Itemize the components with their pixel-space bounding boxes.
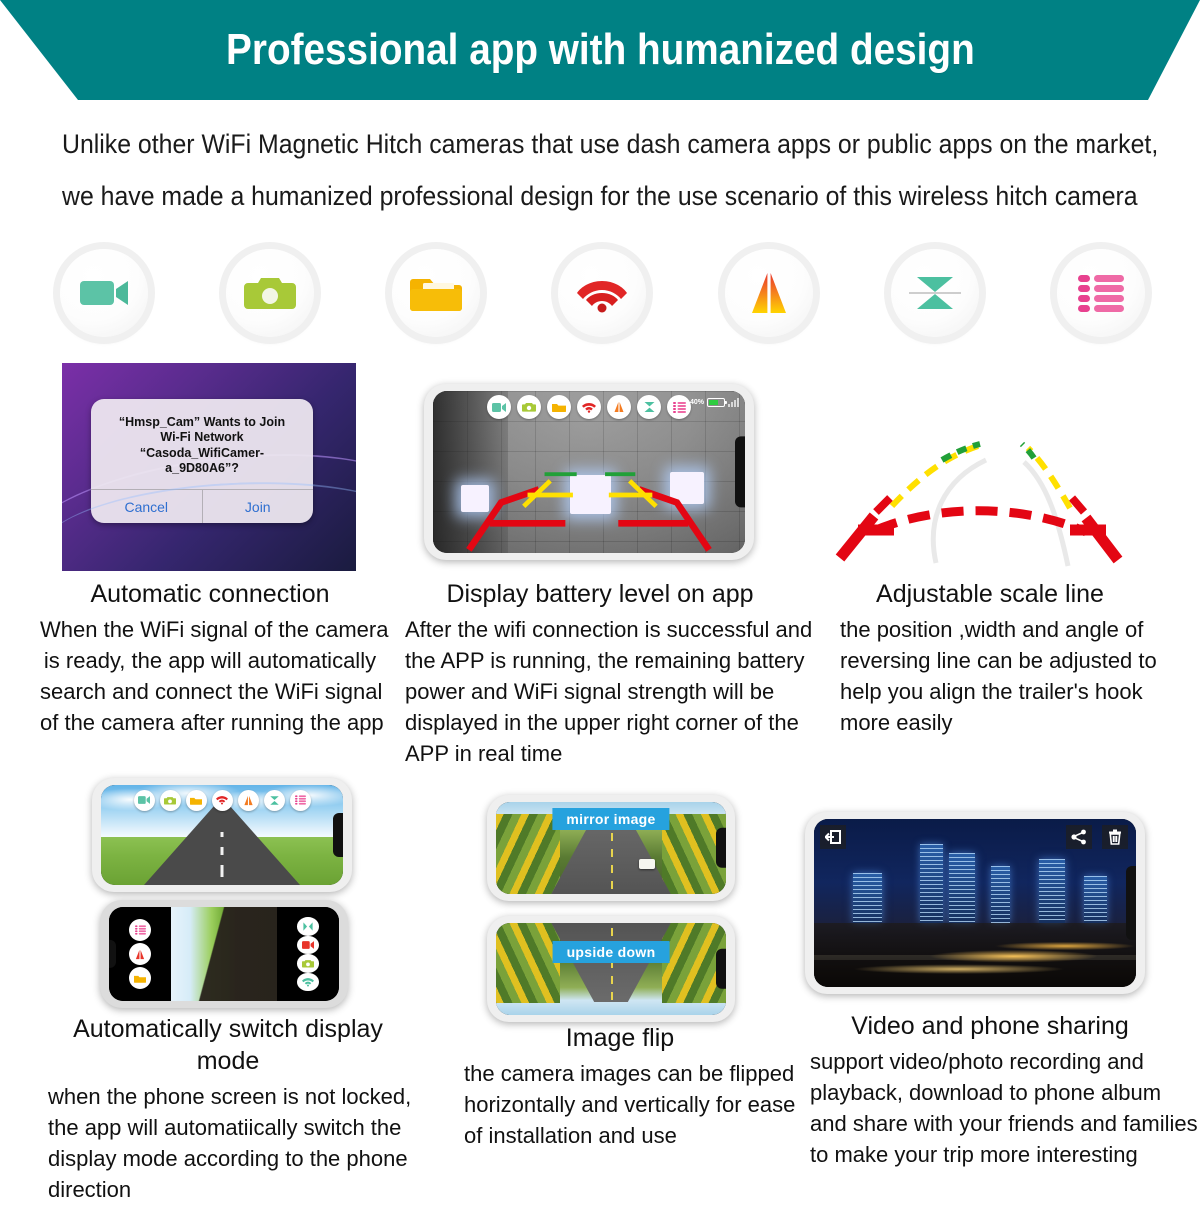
video-record-icon-button[interactable] bbox=[60, 249, 148, 337]
mirror-flip-icon bbox=[744, 270, 794, 316]
right-control-column bbox=[277, 907, 339, 1001]
mirror-flip-icon-button[interactable] bbox=[725, 249, 813, 337]
phone-notch bbox=[716, 828, 726, 868]
mirror-flip-icon[interactable] bbox=[607, 395, 631, 419]
mirror-flip-icon[interactable] bbox=[129, 943, 151, 965]
phone-screen: 40% bbox=[433, 391, 745, 553]
feature-body-line: APP in real time bbox=[405, 738, 795, 769]
feature-body: When the WiFi signal of the camera is re… bbox=[40, 614, 380, 738]
feature-body: the position ,width and angle of reversi… bbox=[820, 614, 1160, 738]
road-marking bbox=[221, 847, 224, 855]
left-control-column bbox=[109, 907, 171, 1001]
mirror-flip-icon[interactable] bbox=[238, 790, 259, 811]
feature-title: Display battery level on app bbox=[405, 578, 795, 610]
feature-adjustable-scale-line: Adjustable scale line the position ,widt… bbox=[820, 578, 1160, 738]
wifi-icon-button[interactable] bbox=[558, 249, 646, 337]
folder-icon-button[interactable] bbox=[392, 249, 480, 337]
phone-notch bbox=[333, 813, 343, 857]
phone-notch bbox=[716, 949, 726, 989]
folder-icon[interactable] bbox=[186, 790, 207, 811]
feature-body-line: display mode according to the phone bbox=[48, 1143, 408, 1174]
roadside-trees-left bbox=[496, 923, 560, 1003]
road-marking bbox=[221, 865, 224, 877]
delete-icon[interactable] bbox=[1102, 825, 1128, 849]
menu-list-icon-button[interactable] bbox=[1057, 249, 1145, 337]
feature-display-battery-level: Display battery level on app After the w… bbox=[405, 578, 795, 769]
feature-body-line: to make your trip more interesting bbox=[810, 1139, 1180, 1170]
feature-body-line: When the WiFi signal of the camera bbox=[40, 614, 380, 645]
feature-icon-row bbox=[60, 240, 1145, 345]
feature-title: Automatically switch display mode bbox=[48, 1013, 408, 1077]
signal-strength-icon bbox=[728, 397, 739, 407]
feature-body-line: help you align the trailer's hook bbox=[840, 676, 1160, 707]
phone-notch bbox=[109, 940, 116, 968]
portrait-mode-phone bbox=[100, 900, 348, 1008]
feature-body: support video/photo recording and playba… bbox=[800, 1046, 1180, 1170]
dialog-line-2: Wi-Fi Network bbox=[160, 430, 243, 446]
road-marking bbox=[221, 832, 224, 837]
feature-body-line: After the wifi connection is successful … bbox=[405, 614, 795, 645]
phone-screen bbox=[101, 785, 343, 885]
vertical-flip-icon-button[interactable] bbox=[891, 249, 979, 337]
feature-body-line: the position ,width and angle of bbox=[840, 614, 1160, 645]
rotated-road-wedge bbox=[171, 907, 277, 1001]
feature-body-line: is ready, the app will automatically bbox=[40, 645, 380, 676]
playback-sharing-phone bbox=[805, 812, 1145, 994]
roadside-trees-left bbox=[496, 814, 560, 894]
road-scene-flipped bbox=[496, 923, 726, 1015]
folder-icon[interactable] bbox=[547, 395, 571, 419]
feature-body-line: horizontally and vertically for ease bbox=[464, 1089, 790, 1120]
feature-body-line: reversing line can be adjusted to bbox=[840, 645, 1160, 676]
menu-list-icon[interactable] bbox=[290, 790, 311, 811]
dialog-line-3: “Casoda_WifiCamer- bbox=[140, 446, 264, 462]
feature-body-line: of the camera after running the app bbox=[40, 707, 380, 738]
photo-camera-icon bbox=[244, 274, 296, 312]
dialog-line-1: “Hmsp_Cam” Wants to Join bbox=[119, 415, 285, 431]
feature-body-line: power and WiFi signal strength will be bbox=[405, 676, 795, 707]
vertical-flip-icon bbox=[909, 270, 961, 316]
battery-percent-label: 40% bbox=[690, 399, 704, 406]
folder-icon[interactable] bbox=[129, 967, 151, 989]
mirror-image-label: mirror image bbox=[552, 808, 669, 830]
cancel-button[interactable]: Cancel bbox=[91, 490, 202, 523]
photo-camera-icon[interactable] bbox=[517, 395, 541, 419]
skyscraper bbox=[1084, 876, 1107, 923]
menu-list-icon[interactable] bbox=[667, 395, 691, 419]
adjustable-scale-line-graphic bbox=[818, 408, 1148, 568]
upside-down-label: upside down bbox=[553, 941, 670, 963]
share-icon[interactable] bbox=[1066, 825, 1092, 849]
feature-body-line: of installation and use bbox=[464, 1120, 790, 1151]
vertical-flip-icon[interactable] bbox=[637, 395, 661, 419]
intro-line-2: we have made a humanized professional de… bbox=[62, 170, 1065, 222]
infographic-page: Professional app with humanized design U… bbox=[0, 0, 1200, 1170]
camera-view-phone: 40% bbox=[424, 384, 754, 560]
feature-title: Automatic connection bbox=[40, 578, 380, 610]
feature-body-line: search and connect the WiFi signal bbox=[40, 676, 380, 707]
feature-title: Adjustable scale line bbox=[820, 578, 1160, 610]
feature-body-line: direction bbox=[48, 1174, 408, 1205]
video-record-icon bbox=[78, 275, 130, 311]
ios-wifi-dialog: “Hmsp_Cam” Wants to Join Wi-Fi Network “… bbox=[91, 399, 313, 523]
feature-body-line: more easily bbox=[840, 707, 1160, 738]
wifi-join-screenshot: “Hmsp_Cam” Wants to Join Wi-Fi Network “… bbox=[62, 363, 356, 571]
phone-screen bbox=[814, 819, 1136, 987]
wifi-icon bbox=[577, 273, 627, 313]
photo-camera-icon-button[interactable] bbox=[226, 249, 314, 337]
photo-camera-icon[interactable] bbox=[297, 954, 319, 973]
wifi-icon[interactable] bbox=[577, 395, 601, 419]
menu-list-icon[interactable] bbox=[129, 919, 151, 941]
mirror-image-phone: mirror image bbox=[487, 795, 735, 901]
join-button[interactable]: Join bbox=[202, 490, 314, 523]
feature-image-flip: Image flip the camera images can be flip… bbox=[450, 1022, 790, 1151]
app-icon-toolbar bbox=[101, 787, 343, 813]
skyscraper bbox=[991, 866, 1010, 923]
feature-title: Video and phone sharing bbox=[800, 1010, 1180, 1042]
wifi-icon[interactable] bbox=[297, 973, 319, 992]
skyscraper bbox=[920, 844, 943, 923]
feature-body-line: and share with your friends and families bbox=[810, 1108, 1180, 1139]
ios-dialog-message: “Hmsp_Cam” Wants to Join Wi-Fi Network “… bbox=[91, 399, 313, 489]
vehicle bbox=[639, 859, 655, 869]
photo-camera-icon[interactable] bbox=[160, 790, 181, 811]
back-icon[interactable] bbox=[820, 825, 846, 849]
ios-dialog-actions: Cancel Join bbox=[91, 489, 313, 523]
feature-body-line: the app will automatiically switch the bbox=[48, 1112, 408, 1143]
feature-body-line: playback, download to phone album bbox=[810, 1077, 1180, 1108]
status-bar: 40% bbox=[690, 397, 739, 407]
feature-body-line: the camera images can be flipped bbox=[464, 1058, 790, 1089]
phone-screen: upside down bbox=[496, 923, 726, 1015]
phone-screen: mirror image bbox=[496, 802, 726, 894]
dialog-line-4: a_9D80A6”? bbox=[165, 461, 239, 477]
header-banner: Professional app with humanized design bbox=[0, 0, 1200, 100]
feature-body: when the phone screen is not locked, the… bbox=[48, 1081, 408, 1205]
upside-down-phone: upside down bbox=[487, 916, 735, 1022]
intro-line-1: Unlike other WiFi Magnetic Hitch cameras… bbox=[62, 118, 1065, 170]
landscape-mode-phone bbox=[92, 778, 352, 892]
feature-body-line: support video/photo recording and bbox=[810, 1046, 1180, 1077]
phone-screen bbox=[109, 907, 339, 1001]
feature-body-line: the APP is running, the remaining batter… bbox=[405, 645, 795, 676]
feature-body: After the wifi connection is successful … bbox=[405, 614, 795, 769]
video-record-icon[interactable] bbox=[487, 395, 511, 419]
traffic-light-trails bbox=[814, 923, 1136, 987]
wifi-icon[interactable] bbox=[212, 790, 233, 811]
phone-notch bbox=[735, 436, 745, 507]
feature-body-line: displayed in the upper right corner of t… bbox=[405, 707, 795, 738]
intro-paragraph: Unlike other WiFi Magnetic Hitch cameras… bbox=[62, 118, 1065, 222]
menu-list-icon bbox=[1076, 272, 1126, 314]
skyscraper bbox=[949, 853, 975, 924]
feature-auto-switch-display-mode: Automatically switch display mode when t… bbox=[48, 1013, 408, 1205]
feature-body-line: when the phone screen is not locked, bbox=[48, 1081, 408, 1112]
feature-automatic-connection: Automatic connection When the WiFi signa… bbox=[40, 578, 380, 738]
page-title: Professional app with humanized design bbox=[226, 28, 975, 72]
feature-title: Image flip bbox=[450, 1022, 790, 1054]
vertical-flip-icon[interactable] bbox=[297, 917, 319, 936]
feature-body: the camera images can be flipped horizon… bbox=[450, 1058, 790, 1151]
skyscraper bbox=[853, 873, 882, 923]
vertical-flip-icon[interactable] bbox=[264, 790, 285, 811]
folder-icon bbox=[410, 273, 462, 313]
feature-video-phone-sharing: Video and phone sharing support video/ph… bbox=[800, 1010, 1180, 1170]
skyscraper bbox=[1039, 859, 1065, 923]
video-record-icon[interactable] bbox=[297, 936, 319, 955]
phone-notch bbox=[1126, 866, 1136, 940]
video-record-icon[interactable] bbox=[134, 790, 155, 811]
battery-icon bbox=[707, 398, 725, 407]
